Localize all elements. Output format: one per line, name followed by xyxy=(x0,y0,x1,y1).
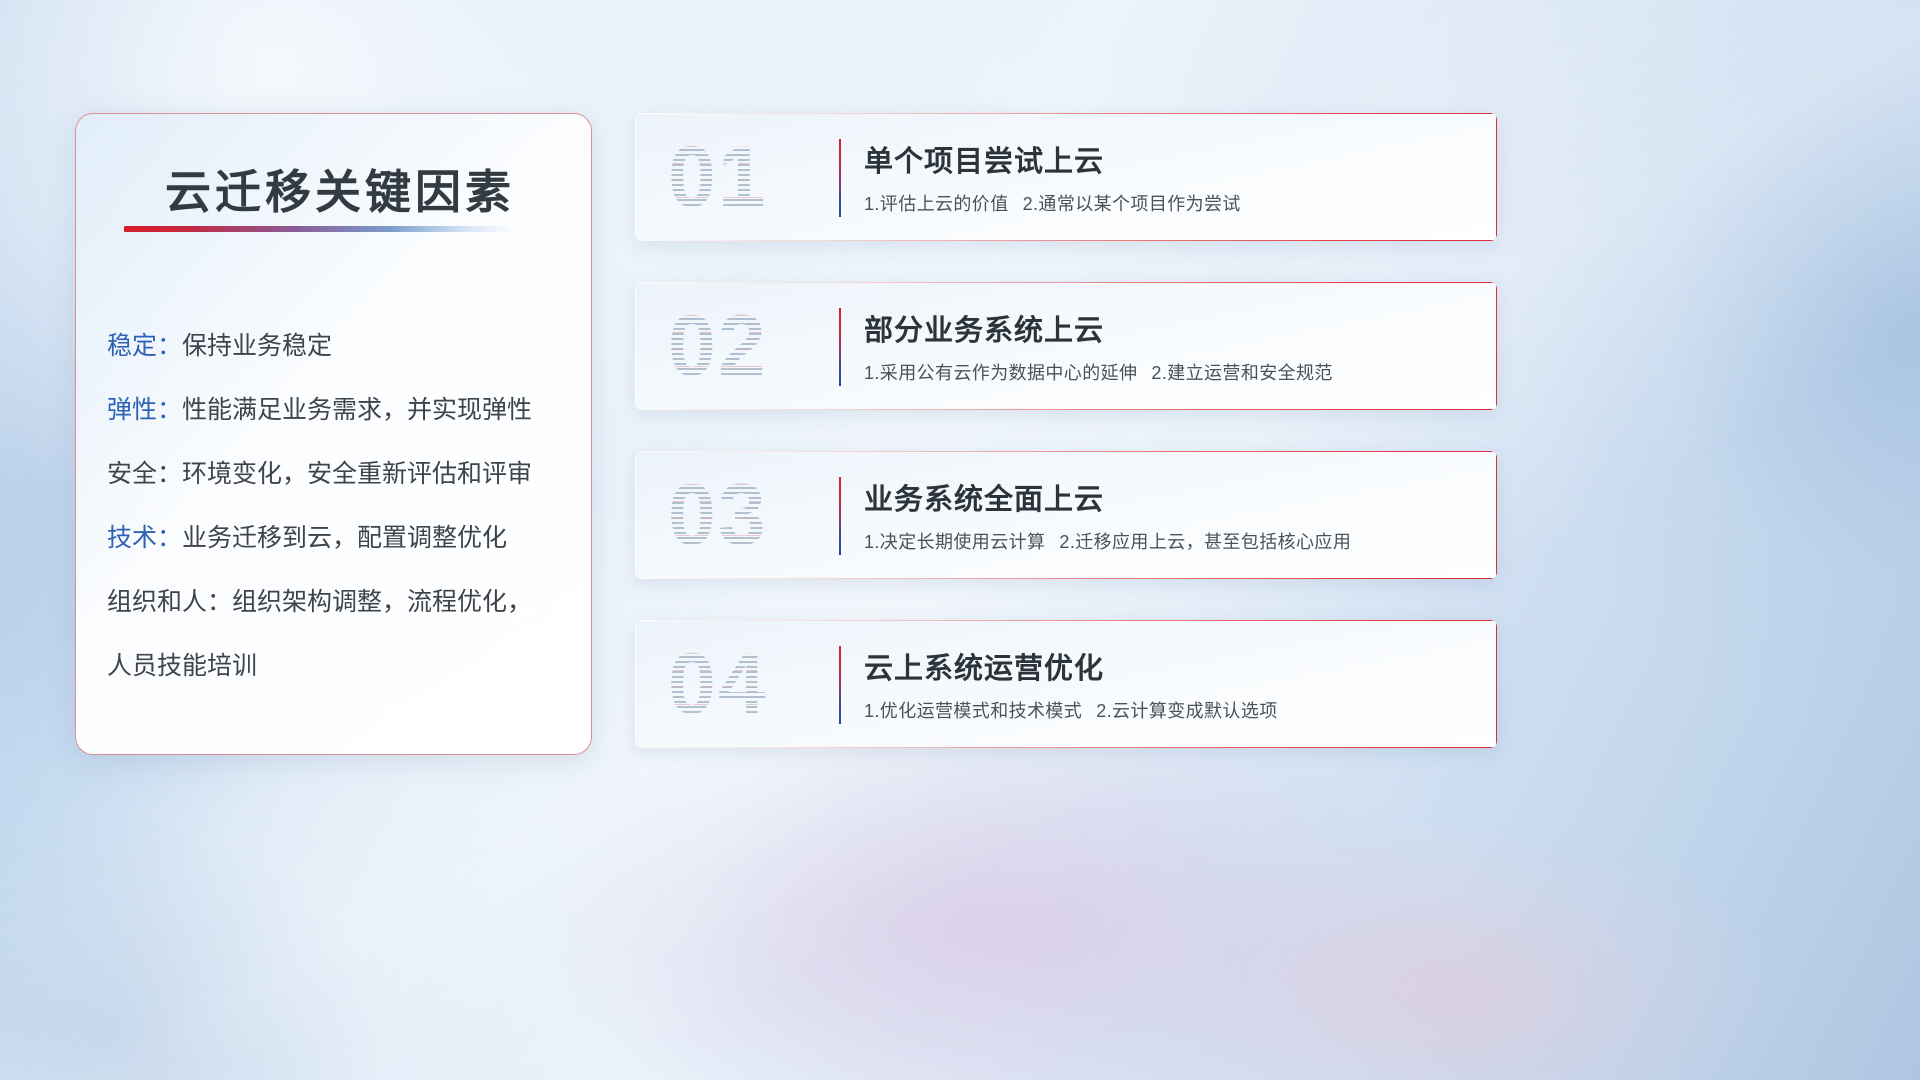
factor-text: 组织架构调整，流程优化， xyxy=(232,588,532,616)
card-divider-bar xyxy=(839,308,841,386)
card-subtitle-item-2: 2.通常以某个项目作为尝试 xyxy=(1023,194,1241,214)
stage-number: 0202 xyxy=(668,298,823,394)
title-underline-rule xyxy=(124,226,516,232)
factor-label: 弹性： xyxy=(107,396,182,424)
stage-card-list: 0101单个项目尝试上云1.评估上云的价值2.通常以某个项目作为尝试0202部分… xyxy=(635,113,1497,789)
card-divider-bar xyxy=(839,139,841,217)
card-subtitle-item-2: 2.迁移应用上云，甚至包括核心应用 xyxy=(1059,532,1351,552)
stage-number: 0303 xyxy=(668,467,823,563)
factor-text: 人员技能培训 xyxy=(107,652,257,680)
factor-row: 技术：业务迁移到云，配置调整优化 xyxy=(107,506,571,570)
card-title: 云上系统运营优化 xyxy=(864,645,1104,687)
card-divider-bar xyxy=(839,646,841,724)
card-subtitle-item-1: 1.评估上云的价值 xyxy=(864,194,1009,214)
card-title: 业务系统全面上云 xyxy=(864,476,1104,518)
card-divider-bar xyxy=(839,477,841,555)
stage-number-glyph: 01 xyxy=(668,129,823,225)
card-subtitle-item-2: 2.建立运营和安全规范 xyxy=(1151,363,1332,383)
stage-card[interactable]: 0303业务系统全面上云1.决定长期使用云计算2.迁移应用上云，甚至包括核心应用 xyxy=(635,451,1497,579)
stage-card[interactable]: 0202部分业务系统上云1.采用公有云作为数据中心的延伸2.建立运营和安全规范 xyxy=(635,282,1497,410)
factor-label: 安全： xyxy=(107,460,182,488)
key-factors-panel: 云迁移关键因素 稳定：保持业务稳定弹性：性能满足业务需求，并实现弹性安全：环境变… xyxy=(75,113,592,755)
factor-list: 稳定：保持业务稳定弹性：性能满足业务需求，并实现弹性安全：环境变化，安全重新评估… xyxy=(107,314,571,698)
card-subtitle-item-1: 1.优化运营模式和技术模式 xyxy=(864,701,1082,721)
factor-row: 弹性：性能满足业务需求，并实现弹性 xyxy=(107,378,571,442)
factor-row: 安全：环境变化，安全重新评估和评审 xyxy=(107,442,571,506)
stage-number-glyph: 04 xyxy=(668,636,823,732)
stage-number: 0404 xyxy=(668,636,823,732)
card-subtitle-item-2: 2.云计算变成默认选项 xyxy=(1096,701,1277,721)
slide-stage: 云迁移关键因素 稳定：保持业务稳定弹性：性能满足业务需求，并实现弹性安全：环境变… xyxy=(0,0,1920,1080)
factor-row: 组织和人：组织架构调整，流程优化， xyxy=(107,570,571,634)
card-subtitle: 1.评估上云的价值2.通常以某个项目作为尝试 xyxy=(864,190,1241,216)
factor-label: 稳定： xyxy=(107,332,182,360)
card-subtitle-item-1: 1.决定长期使用云计算 xyxy=(864,532,1045,552)
stage-number-glyph: 02 xyxy=(668,298,823,394)
card-subtitle: 1.采用公有云作为数据中心的延伸2.建立运营和安全规范 xyxy=(864,359,1333,385)
stage-number: 0101 xyxy=(668,129,823,225)
stage-card[interactable]: 0101单个项目尝试上云1.评估上云的价值2.通常以某个项目作为尝试 xyxy=(635,113,1497,241)
factor-row: 人员技能培训 xyxy=(107,634,571,698)
factor-text: 环境变化，安全重新评估和评审 xyxy=(182,460,532,488)
page-title: 云迁移关键因素 xyxy=(165,156,515,222)
card-subtitle: 1.决定长期使用云计算2.迁移应用上云，甚至包括核心应用 xyxy=(864,528,1351,554)
factor-text: 性能满足业务需求，并实现弹性 xyxy=(182,396,532,424)
stage-number-glyph: 03 xyxy=(668,467,823,563)
factor-label: 技术： xyxy=(107,524,182,552)
factor-row: 稳定：保持业务稳定 xyxy=(107,314,571,378)
factor-label: 组织和人： xyxy=(107,588,232,616)
stage-card[interactable]: 0404云上系统运营优化1.优化运营模式和技术模式2.云计算变成默认选项 xyxy=(635,620,1497,748)
factor-text: 业务迁移到云，配置调整优化 xyxy=(182,524,507,552)
card-title: 单个项目尝试上云 xyxy=(864,138,1104,180)
card-subtitle-item-1: 1.采用公有云作为数据中心的延伸 xyxy=(864,363,1137,383)
card-title: 部分业务系统上云 xyxy=(864,307,1104,349)
factor-text: 保持业务稳定 xyxy=(182,332,332,360)
card-subtitle: 1.优化运营模式和技术模式2.云计算变成默认选项 xyxy=(864,697,1278,723)
